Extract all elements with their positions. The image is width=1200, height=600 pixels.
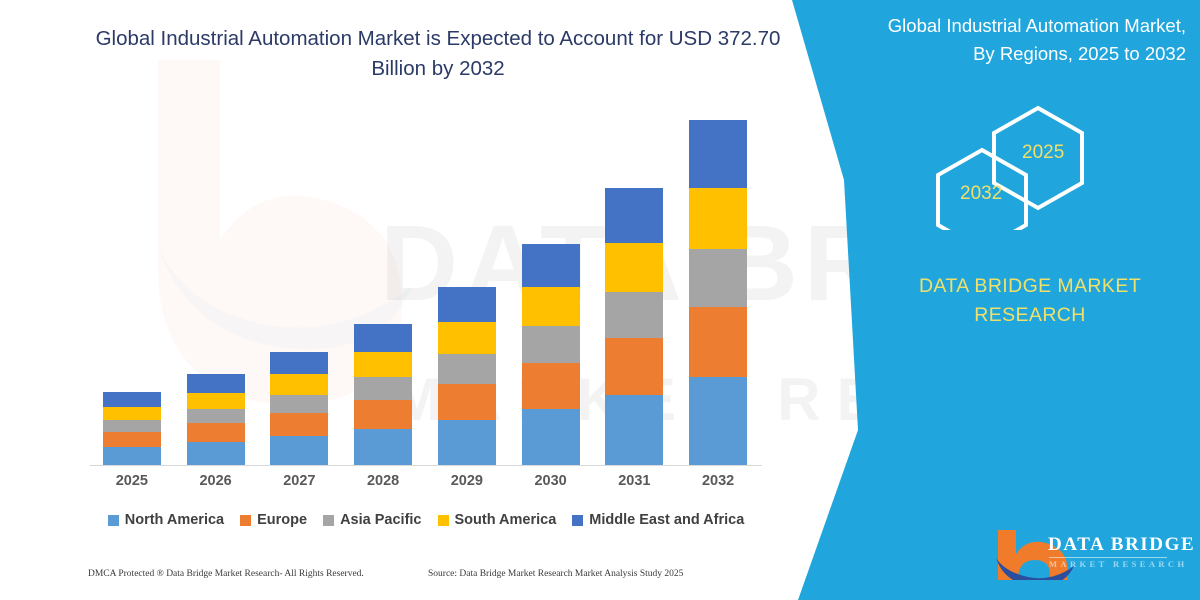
bar-segment: [689, 307, 747, 377]
x-axis-tick-labels: 20252026202720282029203020312032: [90, 473, 760, 489]
hexagon-badges: [920, 100, 1120, 230]
legend-swatch: [572, 515, 583, 526]
logo-divider: [1049, 557, 1167, 558]
legend-label: Asia Pacific: [340, 512, 421, 528]
x-axis-label: 2029: [434, 473, 500, 489]
bar-segment: [187, 393, 245, 409]
bar-segment: [270, 352, 328, 374]
bar-segment: [438, 420, 496, 465]
bar-segment: [270, 436, 328, 465]
bar-segment: [354, 429, 412, 465]
bar-segment: [605, 292, 663, 338]
bar-column: [518, 120, 584, 465]
x-axis-label: 2031: [601, 473, 667, 489]
logo-text-sub: MARKET RESEARCH: [1049, 559, 1187, 569]
logo-text-main: DATA BRIDGE: [1048, 534, 1195, 556]
infographic-canvas: DATA BRIDGE MARKET RESEARCH Global Indus…: [0, 0, 1200, 600]
x-axis-label: 2032: [685, 473, 751, 489]
stacked-bar-group: [90, 120, 760, 465]
bar-segment: [103, 432, 161, 447]
bar-segment: [689, 120, 747, 188]
bar-segment: [605, 395, 663, 465]
chart-legend: North AmericaEuropeAsia PacificSouth Ame…: [90, 512, 762, 528]
side-panel-brand: DATA BRIDGE MARKET RESEARCH: [880, 272, 1180, 331]
chart-plot-area: [90, 120, 760, 465]
bar-segment: [522, 363, 580, 408]
x-axis-label: 2030: [518, 473, 584, 489]
bar-segment: [187, 374, 245, 393]
bar-segment: [605, 338, 663, 394]
bar-segment: [605, 188, 663, 243]
bar-segment: [354, 377, 412, 400]
legend-item[interactable]: South America: [438, 512, 557, 528]
legend-swatch: [438, 515, 449, 526]
legend-swatch: [323, 515, 334, 526]
bar-column: [350, 120, 416, 465]
bar-column: [685, 120, 751, 465]
bar-segment: [270, 374, 328, 394]
bar-segment: [438, 384, 496, 420]
hexagon-label-2025: 2025: [1022, 142, 1064, 164]
bar-segment: [689, 249, 747, 306]
bar-segment: [689, 188, 747, 249]
bar-segment: [187, 442, 245, 465]
side-panel-title: Global Industrial Automation Market, By …: [814, 12, 1186, 68]
bar-segment: [270, 413, 328, 436]
bar-segment: [103, 407, 161, 420]
legend-swatch: [240, 515, 251, 526]
x-axis-label: 2026: [183, 473, 249, 489]
side-panel-brand-line1: DATA BRIDGE MARKET: [880, 272, 1180, 301]
side-panel-title-line2: By Regions, 2025 to 2032: [814, 40, 1186, 68]
bar-segment: [103, 447, 161, 466]
bar-column: [601, 120, 667, 465]
legend-item[interactable]: Middle East and Africa: [572, 512, 744, 528]
legend-item[interactable]: Europe: [240, 512, 307, 528]
bar-segment: [522, 287, 580, 326]
bar-segment: [187, 409, 245, 424]
legend-label: South America: [455, 512, 557, 528]
x-axis-line: [90, 465, 762, 466]
side-panel-title-line1: Global Industrial Automation Market,: [814, 12, 1186, 40]
hexagon-label-2032: 2032: [960, 183, 1002, 205]
bar-segment: [354, 400, 412, 429]
bar-segment: [354, 352, 412, 377]
bar-segment: [438, 287, 496, 322]
bar-segment: [187, 423, 245, 442]
legend-label: Europe: [257, 512, 307, 528]
bar-segment: [689, 377, 747, 465]
bar-segment: [438, 354, 496, 384]
bar-segment: [522, 244, 580, 288]
chart-title: Global Industrial Automation Market is E…: [88, 24, 788, 83]
bar-segment: [605, 243, 663, 292]
bar-column: [99, 120, 165, 465]
x-axis-label: 2027: [266, 473, 332, 489]
bar-segment: [103, 420, 161, 432]
footer-source: Source: Data Bridge Market Research Mark…: [428, 569, 683, 579]
x-axis-label: 2028: [350, 473, 416, 489]
legend-label: North America: [125, 512, 224, 528]
legend-swatch: [108, 515, 119, 526]
bar-column: [183, 120, 249, 465]
bar-segment: [438, 322, 496, 353]
x-axis-label: 2025: [99, 473, 165, 489]
side-panel-brand-line2: RESEARCH: [880, 301, 1180, 330]
bar-segment: [103, 392, 161, 407]
bar-segment: [522, 409, 580, 465]
bar-column: [266, 120, 332, 465]
legend-item[interactable]: North America: [108, 512, 224, 528]
bar-column: [434, 120, 500, 465]
footer-copyright: DMCA Protected ® Data Bridge Market Rese…: [88, 569, 364, 579]
legend-label: Middle East and Africa: [589, 512, 744, 528]
legend-item[interactable]: Asia Pacific: [323, 512, 421, 528]
bar-segment: [522, 326, 580, 363]
bar-segment: [270, 395, 328, 414]
bar-segment: [354, 324, 412, 352]
